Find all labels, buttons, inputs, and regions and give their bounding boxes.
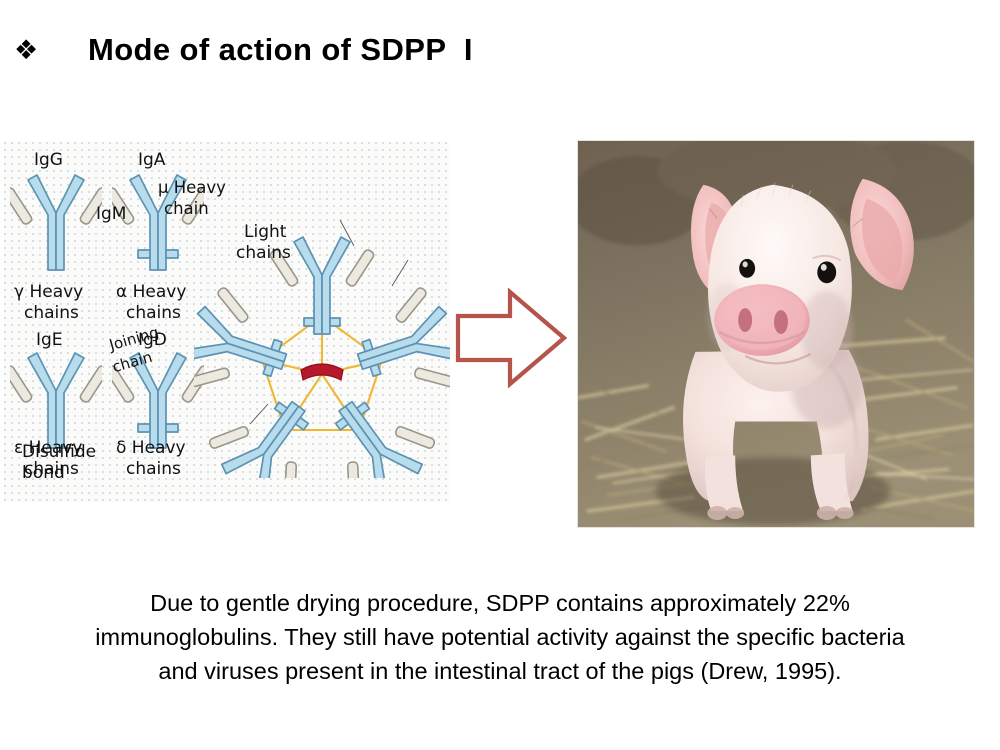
label-iga: IgA [138, 150, 165, 170]
piglet-photograph [577, 140, 975, 528]
page-title: Mode of action of SDPP I [88, 28, 473, 72]
caption-line-2: immunoglobulins. They still have potenti… [10, 620, 990, 654]
label-light-chains-line1: Light [244, 222, 286, 242]
slide-title: ❖ Mode of action of SDPP I [0, 28, 1000, 88]
label-igg: IgG [34, 150, 63, 170]
label-disulfide-bond-line2: bond [22, 463, 65, 483]
label-gamma-heavy-chains-line2: chains [24, 303, 79, 323]
label-ige: IgE [36, 330, 63, 350]
rightward-process-arrow [455, 288, 567, 388]
antibody-igg [10, 172, 102, 277]
antibody-igm-pentamer [194, 178, 450, 478]
caption-line-1: Due to gentle drying procedure, SDPP con… [10, 586, 990, 620]
caption-line-3: and viruses present in the intestinal tr… [10, 654, 990, 688]
diamond-bullet-icon: ❖ [14, 36, 38, 66]
slide-caption: Due to gentle drying procedure, SDPP con… [10, 586, 990, 688]
label-alpha-heavy-chains-line1: α Heavy [116, 282, 186, 302]
label-gamma-heavy-chains-line1: γ Heavy [14, 282, 83, 302]
label-mu-heavy-chain-line2: chain [164, 199, 209, 219]
immunoglobulin-classes-diagram: IgG γ Heavy chains IgA α Heavy chains Ig… [4, 142, 450, 502]
label-disulfide-bond-line1: Disulfide [22, 442, 96, 462]
label-delta-heavy-chains-line2: chains [126, 459, 181, 479]
label-mu-heavy-chain-line1: μ Heavy [158, 178, 226, 198]
label-igm: IgM [96, 204, 126, 224]
label-light-chains-line2: chains [236, 243, 291, 263]
label-alpha-heavy-chains-line2: chains [126, 303, 181, 323]
label-delta-heavy-chains-line1: δ Heavy [116, 438, 186, 458]
